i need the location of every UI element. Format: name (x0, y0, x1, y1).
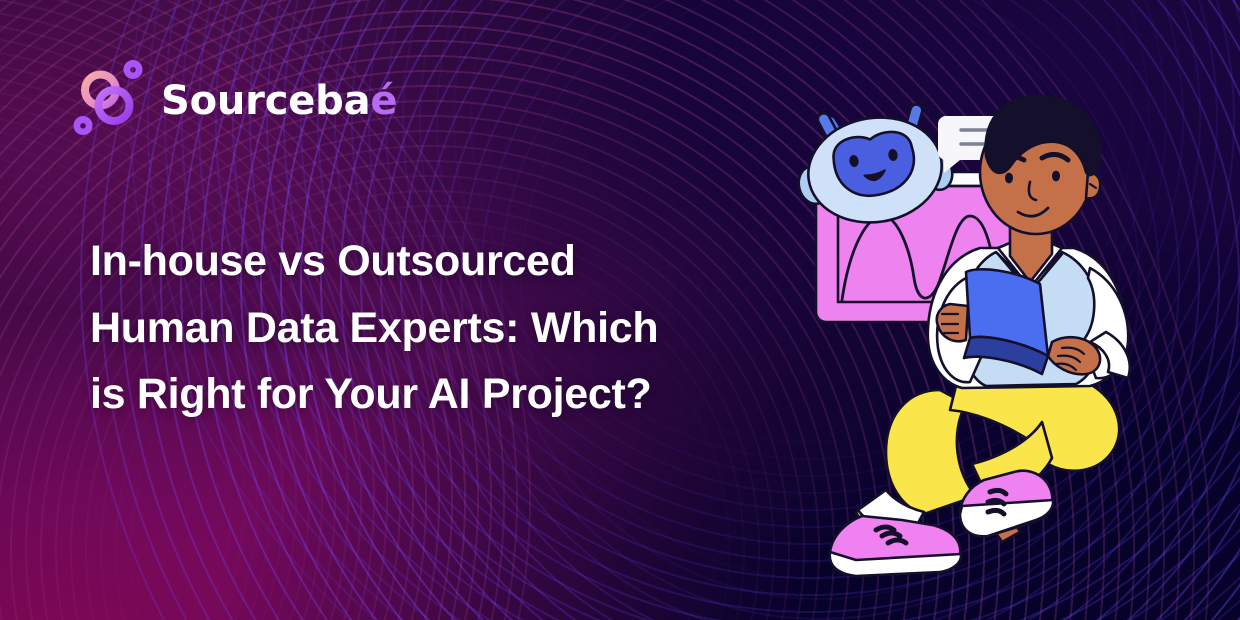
hero-illustration (790, 60, 1220, 570)
shoe-right (960, 471, 1053, 537)
brand-wordmark-main: Sourceba (161, 78, 370, 124)
shoe-left (830, 516, 961, 576)
blog-banner: Sourcebaé In-house vs Outsourced Human D… (0, 0, 1240, 620)
headline-line-3: is Right for Your AI Project? (90, 361, 770, 428)
sourcebae-logo-icon (70, 56, 148, 142)
page-title: In-house vs Outsourced Human Data Expert… (90, 228, 770, 428)
headline-line-2: Human Data Experts: Which (90, 295, 770, 362)
brand-logo[interactable]: Sourcebaé (70, 56, 397, 142)
brand-wordmark-accent: é (370, 78, 397, 124)
brand-wordmark: Sourcebaé (161, 81, 397, 121)
headline-line-1: In-house vs Outsourced (90, 228, 770, 295)
